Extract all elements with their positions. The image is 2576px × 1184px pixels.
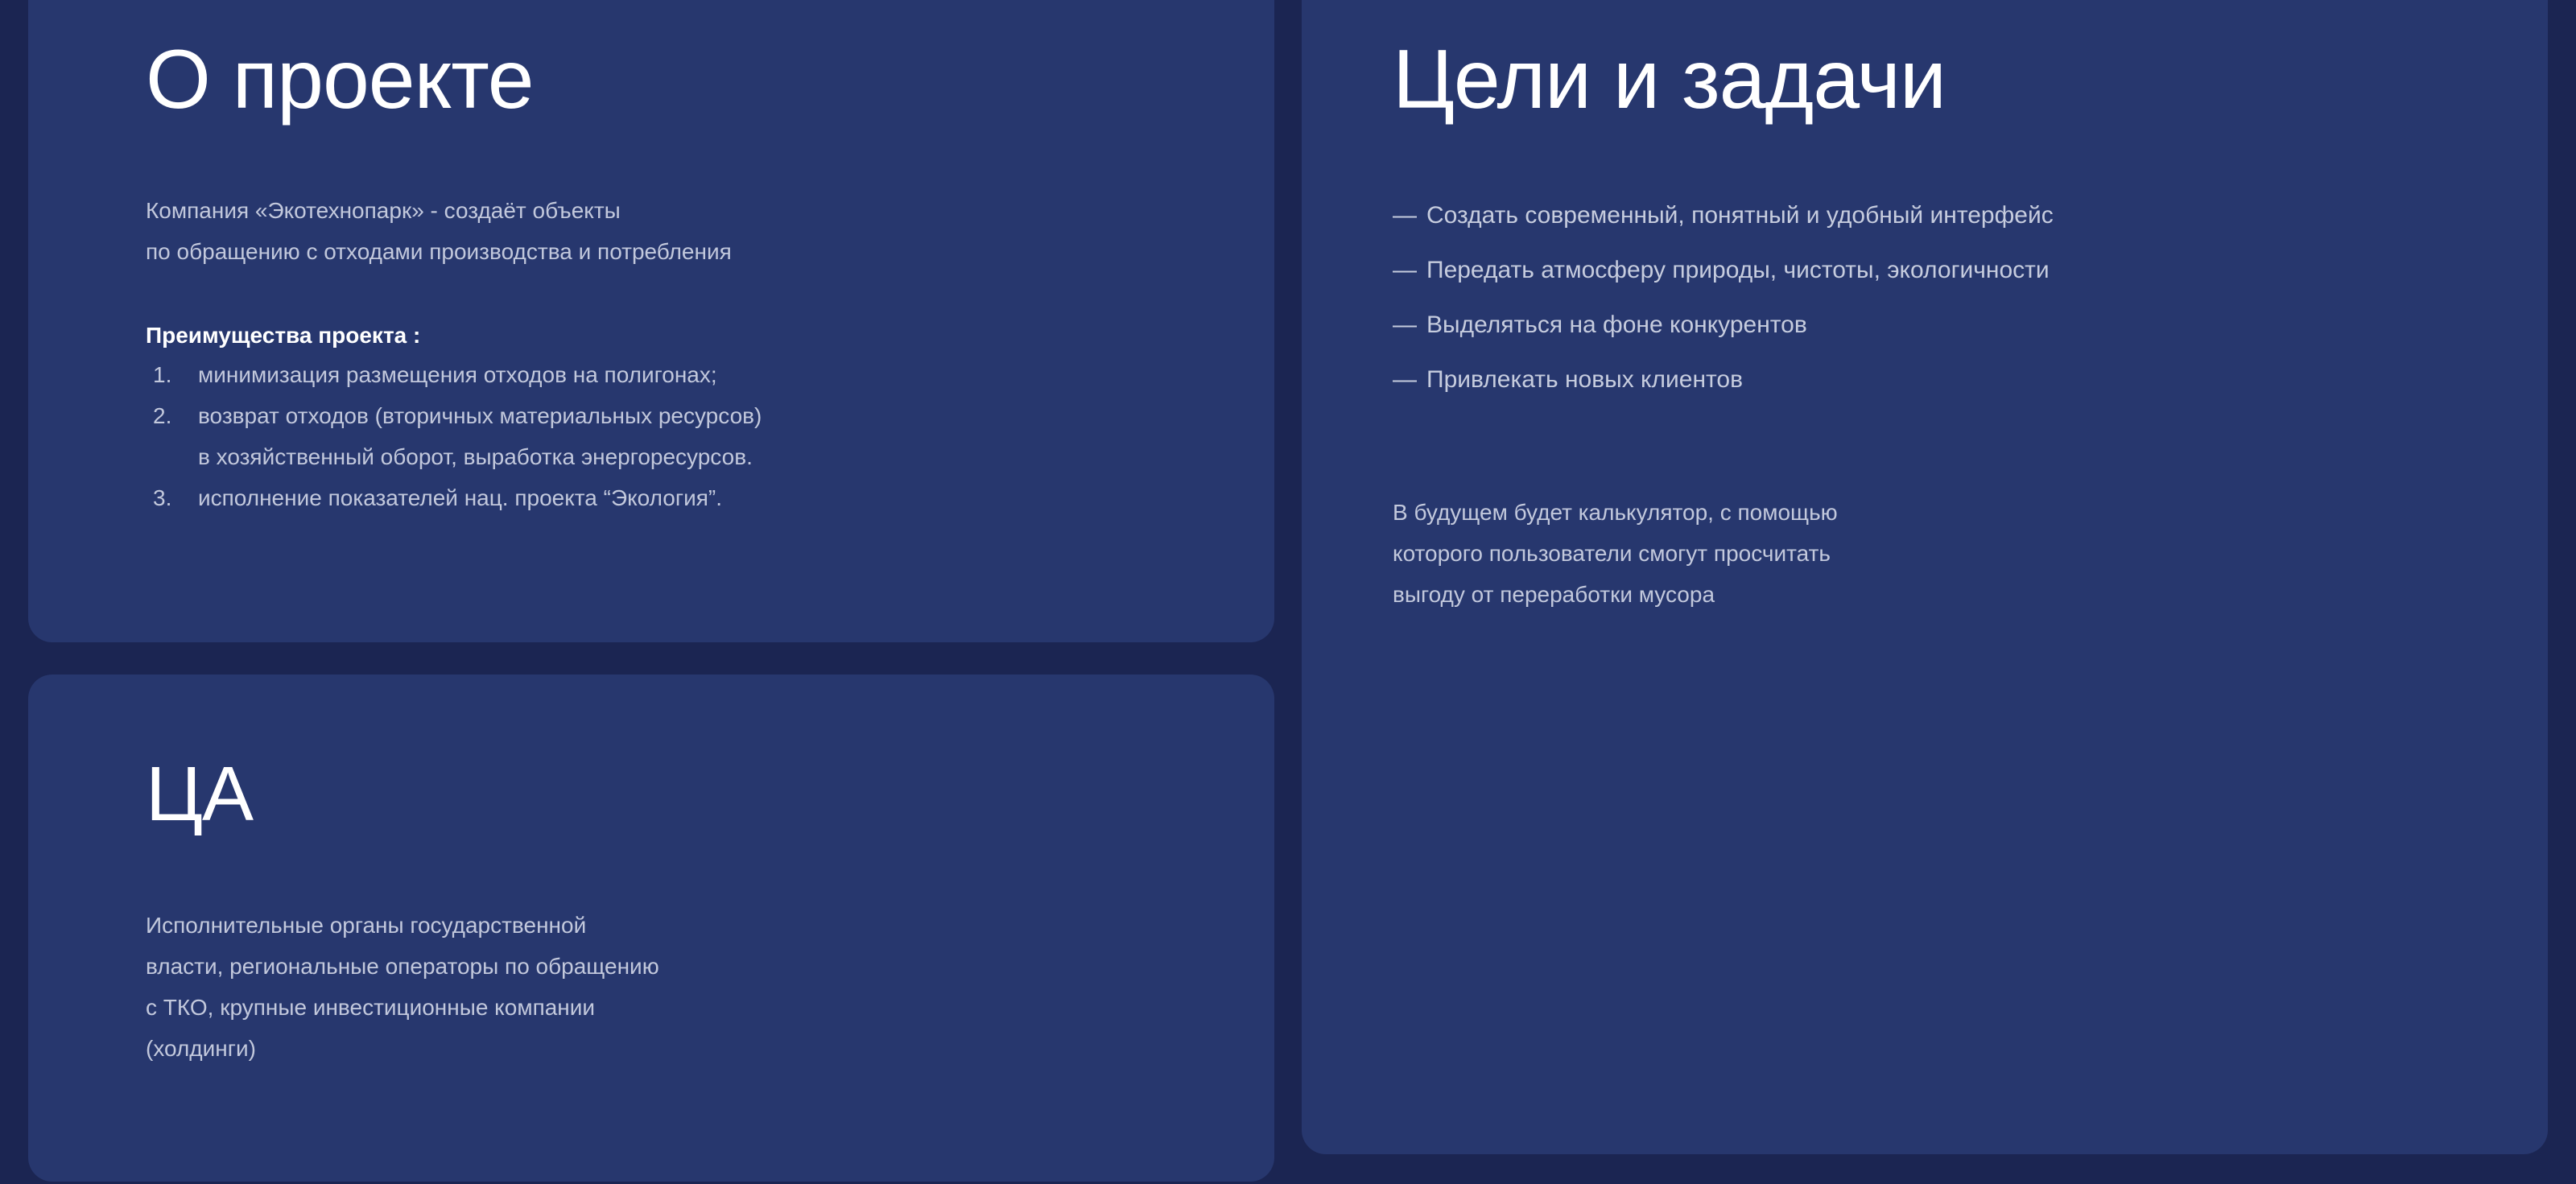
list-item-marker: 2.: [153, 395, 187, 436]
about-lead-line-2: по обращению с отходами производства и п…: [146, 231, 732, 272]
advantages-list: 1. минимизация размещения отходов на пол…: [153, 354, 762, 518]
list-item-line: возврат отходов (вторичных материальных …: [198, 395, 762, 436]
list-item-label: Выделяться на фоне конкурентов: [1426, 311, 1807, 338]
list-item: — Выделяться на фоне конкурентов: [1393, 298, 2054, 353]
dash-bullet-icon: —: [1393, 298, 1417, 353]
list-item-line: исполнение показателей нац. проекта “Эко…: [198, 477, 762, 518]
about-project-lead: Компания «Экотехнопарк» - создаёт объект…: [146, 190, 732, 272]
slide-root: О проекте Компания «Экотехнопарк» - созд…: [0, 0, 2576, 1184]
list-item: 3. исполнение показателей нац. проекта “…: [153, 477, 762, 518]
dash-bullet-icon: —: [1393, 353, 1417, 407]
about-lead-line-1: Компания «Экотехнопарк» - создаёт объект…: [146, 190, 732, 231]
card-about-project: О проекте Компания «Экотехнопарк» - созд…: [28, 0, 1274, 642]
list-item-label: Создать современный, понятный и удобный …: [1426, 202, 2054, 229]
target-audience-text: Исполнительные органы государственной вл…: [146, 905, 659, 1069]
list-item: 2. возврат отходов (вторичных материальн…: [153, 395, 762, 477]
audience-line-2: власти, региональные операторы по обраще…: [146, 946, 659, 987]
target-audience-heading: ЦА: [146, 756, 253, 833]
list-item: — Привлекать новых клиентов: [1393, 353, 2054, 407]
goals-list: — Создать современный, понятный и удобны…: [1393, 188, 2054, 407]
list-item: 1. минимизация размещения отходов на пол…: [153, 354, 762, 395]
list-item-line: минимизация размещения отходов на полиго…: [198, 354, 762, 395]
dash-bullet-icon: —: [1393, 188, 1417, 243]
advantages-subheading: Преимущества проекта :: [146, 324, 420, 347]
about-project-heading: О проекте: [146, 38, 534, 122]
list-item-line: в хозяйственный оборот, выработка энерго…: [198, 436, 762, 477]
list-item-marker: 1.: [153, 354, 187, 395]
goals-note-line-2: которого пользователи смогут просчитать: [1393, 533, 1838, 574]
list-item-label: Передать атмосферу природы, чистоты, эко…: [1426, 257, 2050, 283]
list-item-label: Привлекать новых клиентов: [1426, 366, 1743, 393]
card-goals-and-tasks: Цели и задачи — Создать современный, пон…: [1302, 0, 2548, 1154]
list-item-marker: 3.: [153, 477, 187, 518]
audience-line-3: с ТКО, крупные инвестиционные компании: [146, 987, 659, 1028]
dash-bullet-icon: —: [1393, 243, 1417, 298]
audience-line-4: (холдинги): [146, 1028, 659, 1069]
list-item: — Создать современный, понятный и удобны…: [1393, 188, 2054, 243]
list-item: — Передать атмосферу природы, чистоты, э…: [1393, 243, 2054, 298]
goals-note-line-3: выгоду от переработки мусора: [1393, 574, 1838, 615]
goals-heading: Цели и задачи: [1393, 38, 1946, 122]
card-target-audience: ЦА Исполнительные органы государственной…: [28, 675, 1274, 1182]
goals-future-note: В будущем будет калькулятор, с помощью к…: [1393, 492, 1838, 615]
audience-line-1: Исполнительные органы государственной: [146, 905, 659, 946]
goals-note-line-1: В будущем будет калькулятор, с помощью: [1393, 492, 1838, 533]
